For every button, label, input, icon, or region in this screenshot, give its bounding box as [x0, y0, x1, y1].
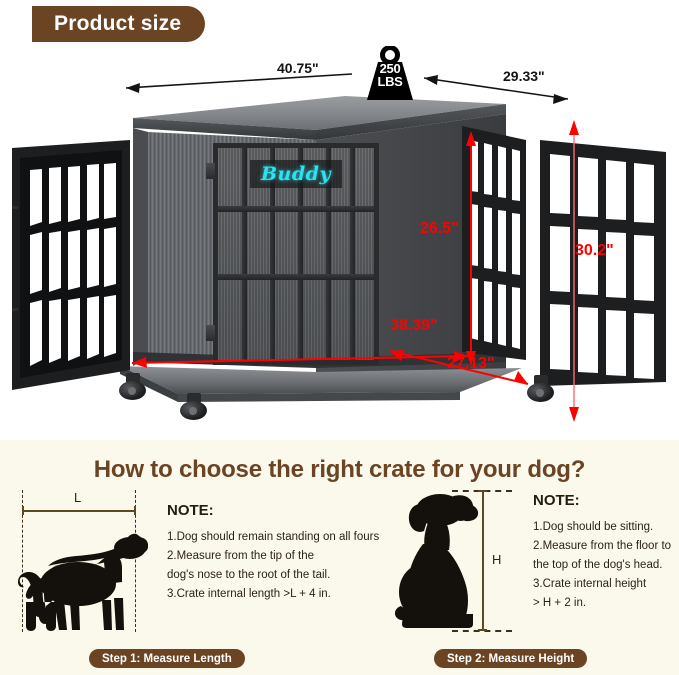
- height-note-line-3: the top of the dog's head.: [533, 556, 671, 575]
- nameplate: Buddy: [250, 160, 342, 188]
- length-note-block: NOTE: 1.Dog should remain standing on al…: [167, 502, 379, 604]
- height-note-line-5: > H + 2 in.: [533, 594, 671, 613]
- guide-heading: How to choose the right crate for your d…: [0, 456, 679, 484]
- weight-capacity-badge: 250 LBS: [361, 46, 419, 104]
- length-note-line-3: dog's nose to the root of the tail.: [167, 566, 379, 585]
- sitting-dog-silhouette: [395, 488, 505, 633]
- length-note-line-1: 1.Dog should remain standing on all four…: [167, 528, 379, 547]
- dimension-label-overall-depth: 29.33": [503, 68, 545, 84]
- dimension-label-overall-height: 30.2": [575, 242, 614, 260]
- dog-crate-illustration: Buddy: [0, 0, 679, 440]
- right-open-door[interactable]: [540, 140, 679, 395]
- height-note-title: NOTE:: [533, 492, 671, 509]
- dimension-label-interior-height: 26.5": [420, 220, 459, 238]
- nameplate-text: Buddy: [261, 163, 331, 185]
- step-2-badge: Step 2: Measure Height: [434, 649, 587, 668]
- length-note-line-4: 3.Crate internal length >L + 4 in.: [167, 585, 379, 604]
- crate-selection-guide-section: How to choose the right crate for your d…: [0, 440, 679, 675]
- length-measure-cap-right: [134, 506, 136, 515]
- step-1-badge: Step 1: Measure Length: [89, 649, 245, 668]
- length-measure-cap-left: [22, 506, 24, 515]
- step-2-label: Step 2: Measure Height: [447, 653, 574, 665]
- length-measure-line: [22, 510, 136, 512]
- standing-dog-silhouette: [18, 522, 148, 632]
- right-inner-grid-panel: [462, 126, 532, 366]
- dimension-label-interior-width: 38.39": [390, 317, 438, 335]
- weight-unit: LBS: [377, 74, 402, 89]
- length-note-line-2: 2.Measure from the tip of the: [167, 547, 379, 566]
- step-1-label: Step 1: Measure Length: [102, 653, 232, 665]
- height-note-line-1: 1.Dog should be sitting.: [533, 518, 671, 537]
- height-note-line-2: 2.Measure from the floor to: [533, 537, 671, 556]
- dimension-label-overall-width: 40.75": [277, 60, 319, 76]
- length-measure-letter: L: [74, 490, 81, 505]
- dimension-label-interior-depth: 27.13": [447, 355, 495, 373]
- door-hinge-top: [206, 163, 215, 179]
- length-note-title: NOTE:: [167, 502, 379, 519]
- height-note-line-4: 3.Crate internal height: [533, 575, 671, 594]
- height-note-block: NOTE: 1.Dog should be sitting. 2.Measure…: [533, 492, 671, 613]
- product-size-section: Product size: [0, 0, 679, 440]
- left-open-door[interactable]: [12, 140, 147, 390]
- door-hinge-bottom: [206, 325, 215, 341]
